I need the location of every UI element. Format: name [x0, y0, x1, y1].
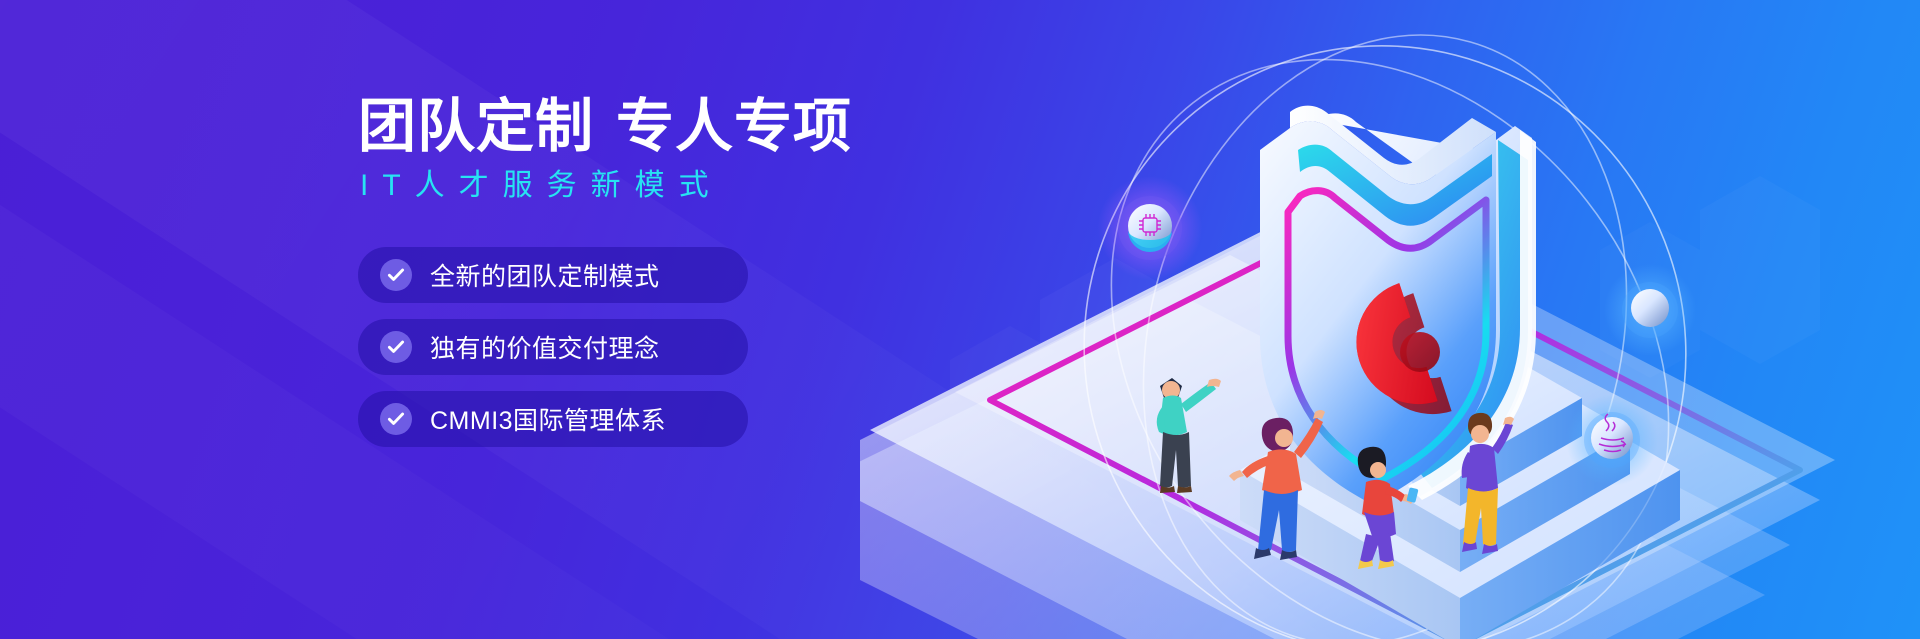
neon-diamond-outline	[990, 228, 1800, 639]
person-4	[1462, 413, 1514, 554]
page-subtitle: IT人才服务新模式	[360, 171, 918, 201]
isometric-base-plates	[860, 200, 1835, 639]
headline-part-2: 专人专项	[616, 94, 852, 159]
feature-pill-label: 全新的团队定制模式	[430, 257, 660, 293]
background-isometric-buildings	[0, 0, 1920, 639]
orbit-arcs-front	[987, 0, 1783, 639]
security-shield	[1260, 106, 1536, 504]
feature-pill-2[interactable]: 独有的价值交付理念	[358, 319, 748, 375]
podium-steps	[1240, 328, 1680, 639]
brand-c-logo	[1340, 283, 1451, 430]
headline-part-1: 团队定制	[358, 94, 594, 159]
person-2	[1229, 410, 1325, 560]
hero-illustration	[860, 0, 1920, 639]
background-sheen	[0, 0, 1920, 639]
person-3	[1358, 447, 1419, 569]
sheen-band-1	[0, 0, 1881, 639]
promo-banner: 团队定制专人专项 IT人才服务新模式 全新的团队定制模式 独有的价值交付理念	[0, 0, 1920, 639]
check-icon	[380, 403, 412, 435]
orbit-arcs	[987, 0, 1784, 639]
circuit-chip-orb	[1098, 176, 1202, 280]
feature-pill-label: 独有的价值交付理念	[430, 329, 660, 365]
feature-pill-label: CMMI3国际管理体系	[430, 401, 666, 437]
check-icon	[380, 259, 412, 291]
people-group	[1157, 378, 1514, 569]
plain-sphere-orb	[1604, 264, 1696, 356]
isometric-security-shield-scene	[860, 0, 1920, 639]
java-orb-icon	[1566, 394, 1658, 486]
person-1	[1157, 378, 1221, 493]
page-title: 团队定制专人专项	[358, 96, 918, 157]
feature-list: 全新的团队定制模式 独有的价值交付理念 CMMI3国际管理体系	[358, 247, 918, 447]
feature-pill-1[interactable]: 全新的团队定制模式	[358, 247, 748, 303]
copy-block: 团队定制专人专项 IT人才服务新模式 全新的团队定制模式 独有的价值交付理念	[358, 96, 918, 447]
check-icon	[380, 331, 412, 363]
feature-pill-3[interactable]: CMMI3国际管理体系	[358, 391, 748, 447]
